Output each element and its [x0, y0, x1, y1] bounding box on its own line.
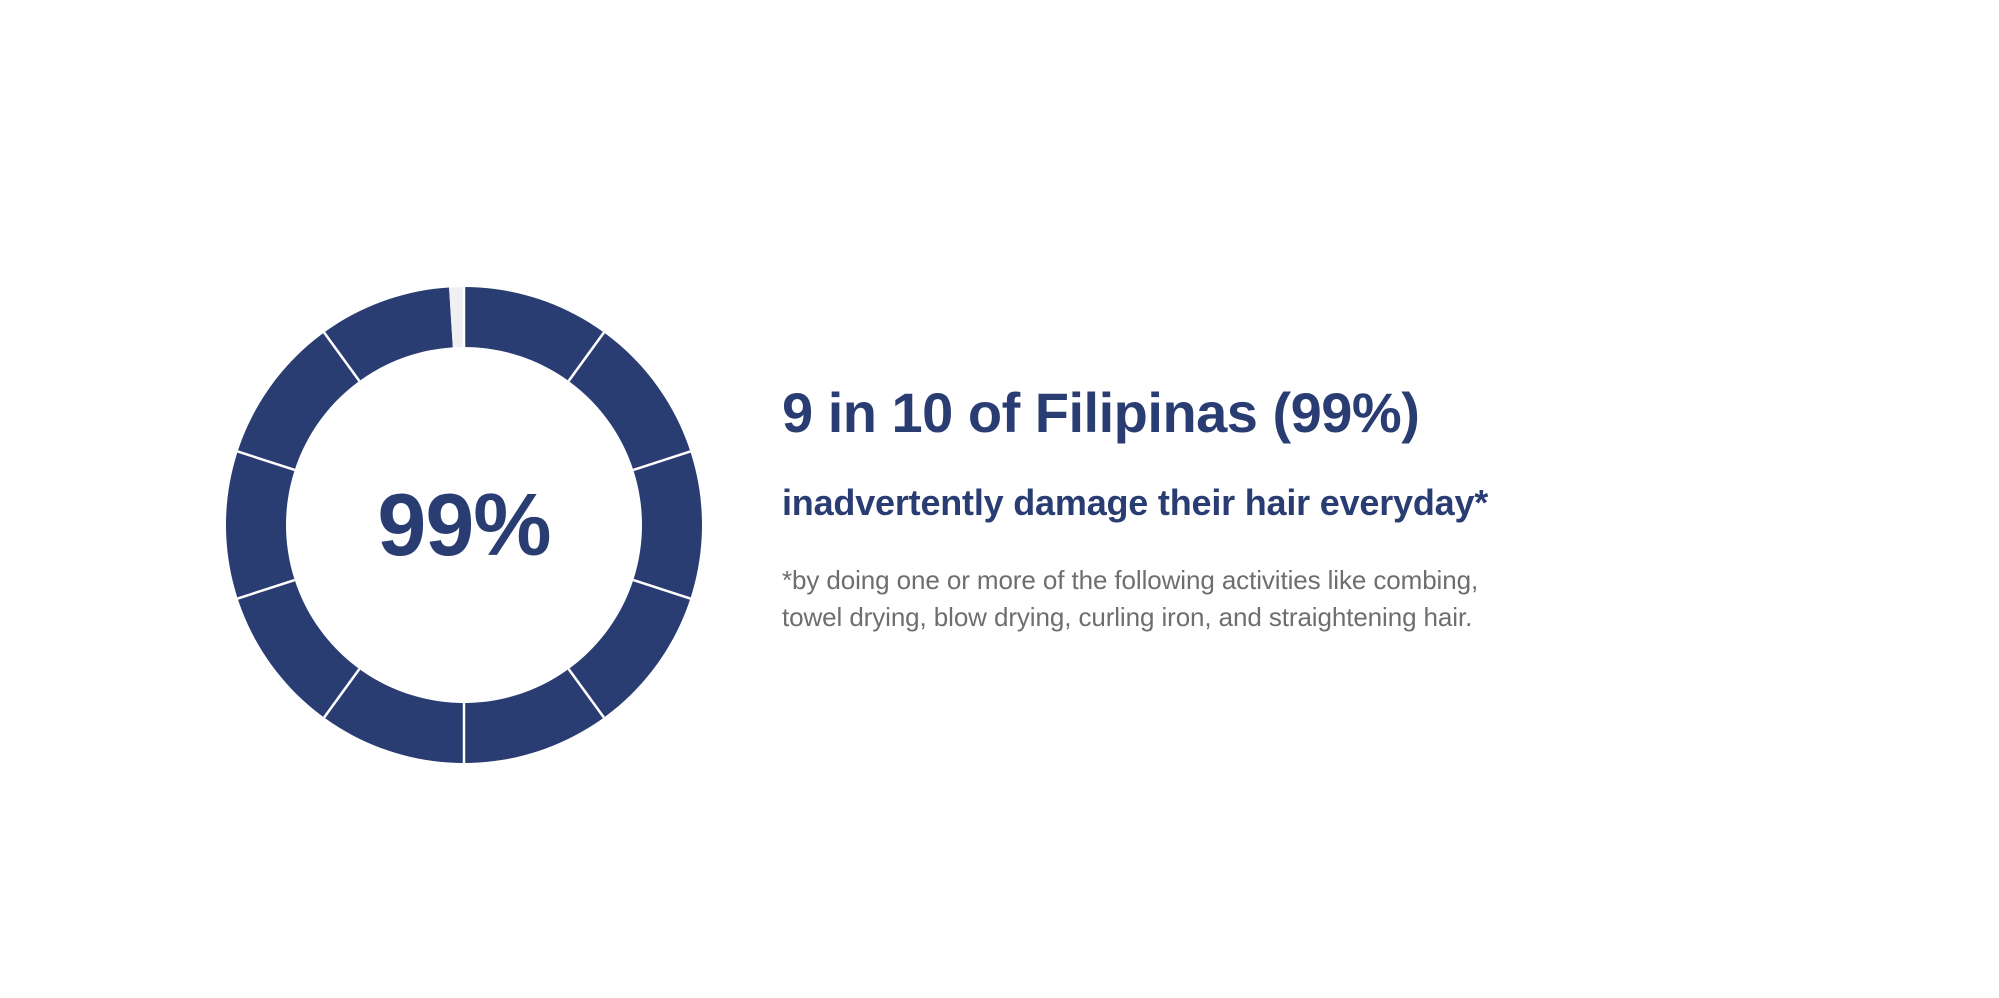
- text-column: 9 in 10 of Filipinas (99%) inadvertently…: [782, 382, 1882, 636]
- footnote-line: towel drying, blow drying, curling iron,…: [782, 599, 1882, 636]
- footnote-line: *by doing one or more of the following a…: [782, 562, 1882, 599]
- headline: 9 in 10 of Filipinas (99%): [782, 382, 1882, 445]
- donut-slices: [226, 287, 702, 763]
- infographic-canvas: 99% 9 in 10 of Filipinas (99%) inadverte…: [0, 0, 1999, 998]
- footnote: *by doing one or more of the following a…: [782, 562, 1882, 636]
- donut-chart: 99%: [226, 287, 702, 763]
- donut-slice: [226, 287, 702, 763]
- donut-chart-svg: [226, 287, 702, 763]
- subheadline: inadvertently damage their hair everyday…: [782, 481, 1882, 524]
